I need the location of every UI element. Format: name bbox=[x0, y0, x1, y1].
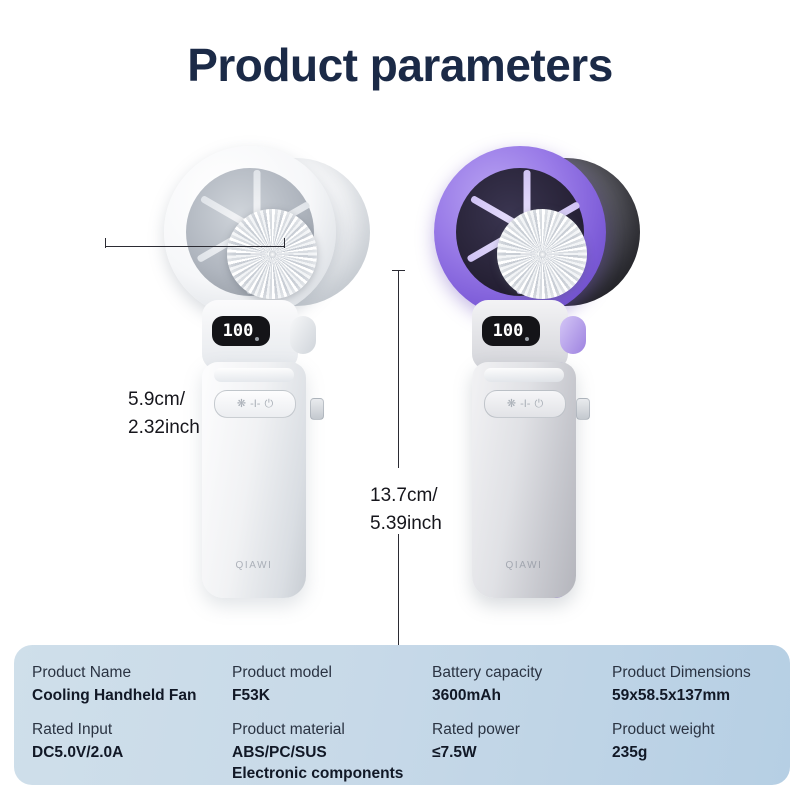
measure-cap-right bbox=[284, 238, 285, 248]
product-white-fan: 100 ❋ -I- ⏻ QIAWI bbox=[150, 140, 380, 610]
spec-value: ABS/PC/SUS bbox=[232, 743, 432, 763]
fan-metal-hub bbox=[227, 209, 317, 299]
width-measure-label: 5.9cm/ 2.32inch bbox=[128, 386, 248, 441]
product-parameters-infographic: Product parameters 100 bbox=[0, 0, 800, 800]
fan-speed-icon: ❋ bbox=[507, 399, 516, 410]
spec-item-product-dimensions: Product Dimensions 59x58.5x137mm bbox=[612, 663, 800, 706]
spec-key: Product Name bbox=[32, 663, 232, 683]
product-stage: 100 ❋ -I- ⏻ QIAWI bbox=[0, 120, 800, 630]
battery-display-value: 100 bbox=[223, 323, 254, 340]
spec-value: 59x58.5x137mm bbox=[612, 686, 800, 706]
fan-ring-purple bbox=[434, 146, 606, 318]
spec-item-product-model: Product model F53K bbox=[232, 663, 432, 706]
spec-key: Rated Input bbox=[32, 720, 232, 740]
battery-display-purple: 100 bbox=[482, 316, 540, 346]
fan-cavity-white bbox=[186, 168, 314, 296]
brand-label-purple: QIAWI bbox=[472, 560, 576, 571]
handle-ridge bbox=[214, 368, 294, 382]
spec-key: Rated power bbox=[432, 720, 612, 740]
hinge-knob[interactable] bbox=[290, 316, 316, 354]
spec-value: Cooling Handheld Fan bbox=[32, 686, 232, 706]
fan-metal-hub bbox=[497, 209, 587, 299]
width-measure-line bbox=[105, 238, 285, 240]
spec-key: Battery capacity bbox=[432, 663, 612, 683]
height-measure-label: 13.7cm/ 5.39inch bbox=[370, 482, 490, 537]
usb-c-port-white bbox=[310, 398, 324, 420]
spec-item-product-name: Product Name Cooling Handheld Fan bbox=[32, 663, 232, 706]
usb-c-port-purple bbox=[576, 398, 590, 420]
handle-ridge bbox=[484, 368, 564, 382]
height-inch-text: 5.39inch bbox=[370, 510, 490, 538]
spec-item-rated-input: Rated Input DC5.0V/2.0A bbox=[32, 720, 232, 783]
spec-value: DC5.0V/2.0A bbox=[32, 743, 232, 763]
percent-dot-icon bbox=[255, 337, 259, 341]
battery-display-white: 100 bbox=[212, 316, 270, 346]
percent-dot-icon bbox=[525, 337, 529, 341]
spec-key: Product Dimensions bbox=[612, 663, 800, 683]
level-icon: -I- bbox=[250, 399, 260, 410]
power-icon: ⏻ bbox=[264, 399, 273, 410]
spec-key: Product model bbox=[232, 663, 432, 683]
spec-key: Product weight bbox=[612, 720, 800, 740]
page-title: Product parameters bbox=[0, 38, 800, 92]
spec-key: Product material bbox=[232, 720, 432, 740]
spec-grid: Product Name Cooling Handheld Fan Produc… bbox=[14, 663, 790, 784]
spec-panel: Product Name Cooling Handheld Fan Produc… bbox=[14, 645, 790, 785]
spec-value-line2: Electronic components bbox=[232, 764, 432, 784]
spec-item-product-material: Product material ABS/PC/SUS Electronic c… bbox=[232, 720, 432, 783]
fan-cavity-purple bbox=[456, 168, 584, 296]
measure-bar bbox=[105, 246, 285, 247]
height-cm-text: 13.7cm/ bbox=[370, 482, 490, 510]
battery-display-value: 100 bbox=[493, 323, 524, 340]
spec-value: F53K bbox=[232, 686, 432, 706]
spec-value: 3600mAh bbox=[432, 686, 612, 706]
spec-value: 235g bbox=[612, 743, 800, 763]
hinge-knob[interactable] bbox=[560, 316, 586, 354]
fan-ring-white bbox=[164, 146, 336, 318]
spec-item-battery-capacity: Battery capacity 3600mAh bbox=[432, 663, 612, 706]
width-cm-text: 5.9cm/ bbox=[128, 386, 248, 414]
spec-value: ≤7.5W bbox=[432, 743, 612, 763]
measure-bar-upper bbox=[398, 270, 399, 468]
width-inch-text: 2.32inch bbox=[128, 414, 248, 442]
level-icon: -I- bbox=[520, 399, 530, 410]
product-purple-fan: 100 ❋ -I- ⏻ QIAWI bbox=[420, 140, 650, 610]
spec-item-rated-power: Rated power ≤7.5W bbox=[432, 720, 612, 783]
spec-item-product-weight: Product weight 235g bbox=[612, 720, 800, 783]
power-icon: ⏻ bbox=[534, 399, 543, 410]
control-button-purple[interactable]: ❋ -I- ⏻ bbox=[484, 390, 566, 418]
brand-label-white: QIAWI bbox=[202, 560, 306, 571]
